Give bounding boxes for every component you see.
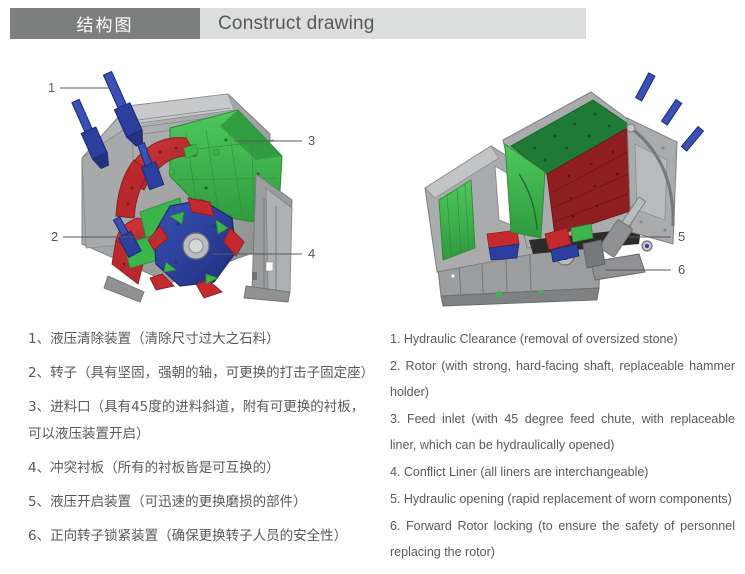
list-item-en-3: 3. Feed inlet (with 45 degree feed chute…	[390, 406, 735, 458]
list-item-en-4: 4. Conflict Liner (all liners are interc…	[390, 459, 735, 485]
page-header: 结构图 Construct drawing	[10, 8, 586, 39]
callout-1: 1	[48, 80, 55, 95]
list-item-en-2: 2. Rotor (with strong, hard-facing shaft…	[390, 353, 735, 405]
figure-right-crusher-opened: 5 6	[395, 48, 725, 318]
header-title-en: Construct drawing	[200, 8, 586, 39]
list-item-cn-6: 6、正向转子锁紧装置（确保更换转子人员的安全性）	[10, 523, 370, 550]
callout-3: 3	[308, 133, 315, 148]
header-title-cn: 结构图	[10, 8, 200, 39]
support-legs	[252, 174, 292, 294]
list-item-cn-2: 2、转子（具有坚固，强朝的轴，可更换的打击子固定座）	[10, 360, 370, 387]
list-item-cn-4: 4、冲突衬板（所有的衬板皆是可互换的）	[10, 455, 370, 482]
feature-list-english: 1. Hydraulic Clearance (removal of overs…	[390, 326, 735, 566]
list-item-en-5: 5. Hydraulic opening (rapid replacement …	[390, 486, 735, 512]
list-item-en-1: 1. Hydraulic Clearance (removal of overs…	[390, 326, 735, 352]
callout-6: 6	[678, 262, 685, 277]
figure-left-crusher-cutaway: 1 2 3 4	[20, 48, 350, 318]
list-item-cn-5: 5、液压开启装置（可迅速的更换磨损的部件）	[10, 489, 370, 516]
list-item-cn-1: 1、液压清除装置（清除尺寸过大之石料）	[10, 326, 370, 353]
hinged-door-right	[627, 118, 677, 244]
description-columns: 1、液压清除装置（清除尺寸过大之石料） 2、转子（具有坚固，强朝的轴，可更换的打…	[0, 326, 745, 574]
callout-2: 2	[51, 229, 58, 244]
figure-area: 1 2 3 4	[0, 48, 745, 318]
callout-4: 4	[308, 246, 315, 261]
list-item-cn-3: 3、进料口（具有45度的进料斜道，附有可更换的衬板，可以液压装置开启）	[10, 394, 370, 448]
callout-5: 5	[678, 229, 685, 244]
list-item-en-6: 6. Forward Rotor locking (to ensure the …	[390, 513, 735, 565]
feature-list-chinese: 1、液压清除装置（清除尺寸过大之石料） 2、转子（具有坚固，强朝的轴，可更换的打…	[10, 326, 370, 557]
